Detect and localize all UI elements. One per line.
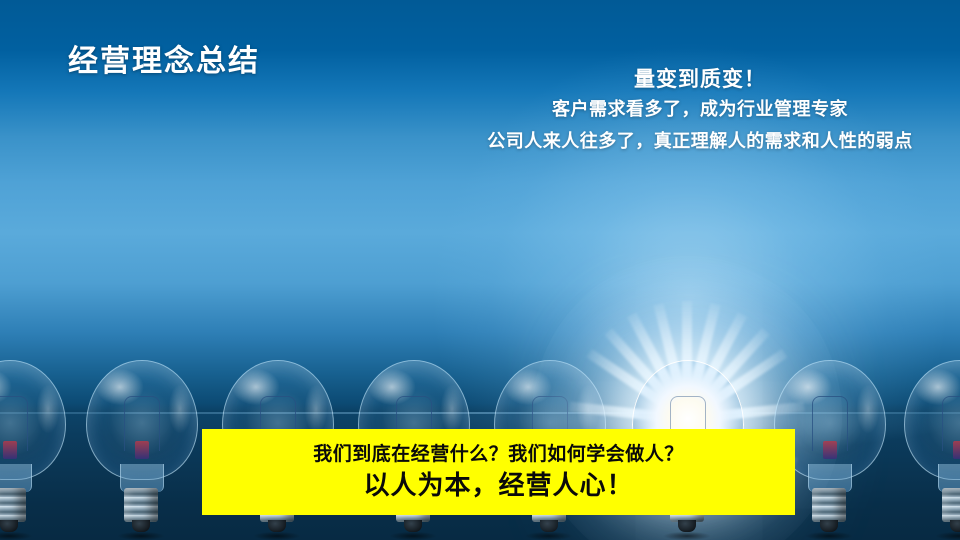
bulb-screw-cap xyxy=(942,488,960,522)
bulb-filament xyxy=(812,396,848,451)
bulb-shadow xyxy=(244,530,310,540)
bulb-shadow xyxy=(516,530,582,540)
presentation-slide: 经营理念总结 量变到质变！ 客户需求看多了，成为行业管理专家 公司人来人往多了，… xyxy=(0,0,960,540)
bulb-screw-cap xyxy=(124,488,158,522)
bulb-shadow xyxy=(380,530,446,540)
lightbulb-icon xyxy=(82,360,200,540)
message-block: 量变到质变！ 客户需求看多了，成为行业管理专家 公司人来人往多了，真正理解人的需… xyxy=(460,64,940,158)
callout-line-1: 我们到底在经营什么？我们如何学会做人？ xyxy=(313,440,684,468)
bulb-shadow xyxy=(108,530,174,540)
bulb-filament xyxy=(0,396,28,451)
message-line-1: 量变到质变！ xyxy=(460,64,940,94)
lightbulb-icon xyxy=(900,360,960,540)
callout-line-2: 以人为本，经营人心！ xyxy=(363,468,633,504)
callout-box: 我们到底在经营什么？我们如何学会做人？ 以人为本，经营人心！ xyxy=(202,429,795,515)
message-line-3: 公司人来人往多了，真正理解人的需求和人性的弱点 xyxy=(460,126,940,158)
bulb-shadow xyxy=(654,530,720,540)
bulb-filament xyxy=(942,396,960,451)
bulb-filament xyxy=(124,396,160,451)
lightbulb-icon xyxy=(0,360,68,540)
bulb-screw-cap xyxy=(812,488,846,522)
bulb-shadow xyxy=(796,530,862,540)
page-title: 经营理念总结 xyxy=(68,36,260,80)
bulb-shadow xyxy=(926,530,960,540)
bulb-screw-cap xyxy=(0,488,26,522)
bulb-shadow xyxy=(0,530,42,540)
message-line-2: 客户需求看多了，成为行业管理专家 xyxy=(460,94,940,126)
